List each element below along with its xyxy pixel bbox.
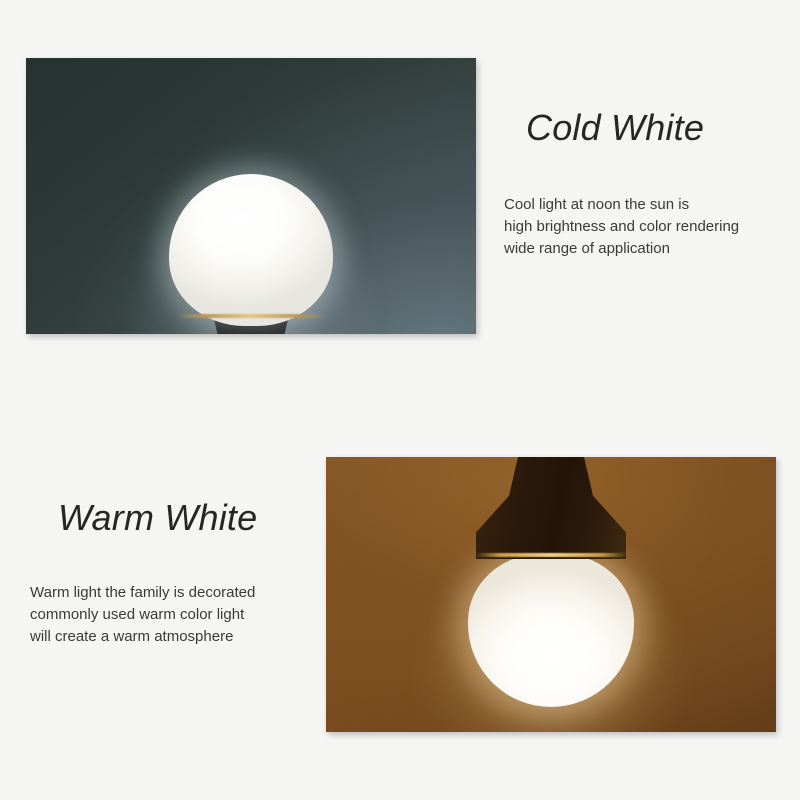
warm-white-description: Warm light the family is decorated commo… (30, 582, 330, 648)
warm-bulb-base (476, 457, 626, 559)
warm-bulb-rim-line (475, 553, 627, 557)
warm-white-text-block: Warm White Warm light the family is deco… (30, 498, 330, 648)
cold-bulb-rim-line (176, 314, 326, 318)
cold-white-text-block: Cold White Cool light at noon the sun is… (504, 108, 794, 260)
cold-white-bulb-photo (26, 58, 476, 334)
cold-white-description: Cool light at noon the sun is high brigh… (504, 194, 794, 260)
warm-white-title: Warm White (58, 498, 330, 538)
warm-bulb-globe (468, 553, 634, 707)
warm-white-bulb-photo (326, 457, 776, 732)
product-feature-page: Cold White Cool light at noon the sun is… (0, 0, 800, 800)
cold-white-title: Cold White (526, 108, 794, 148)
cold-bulb-globe (169, 174, 333, 326)
